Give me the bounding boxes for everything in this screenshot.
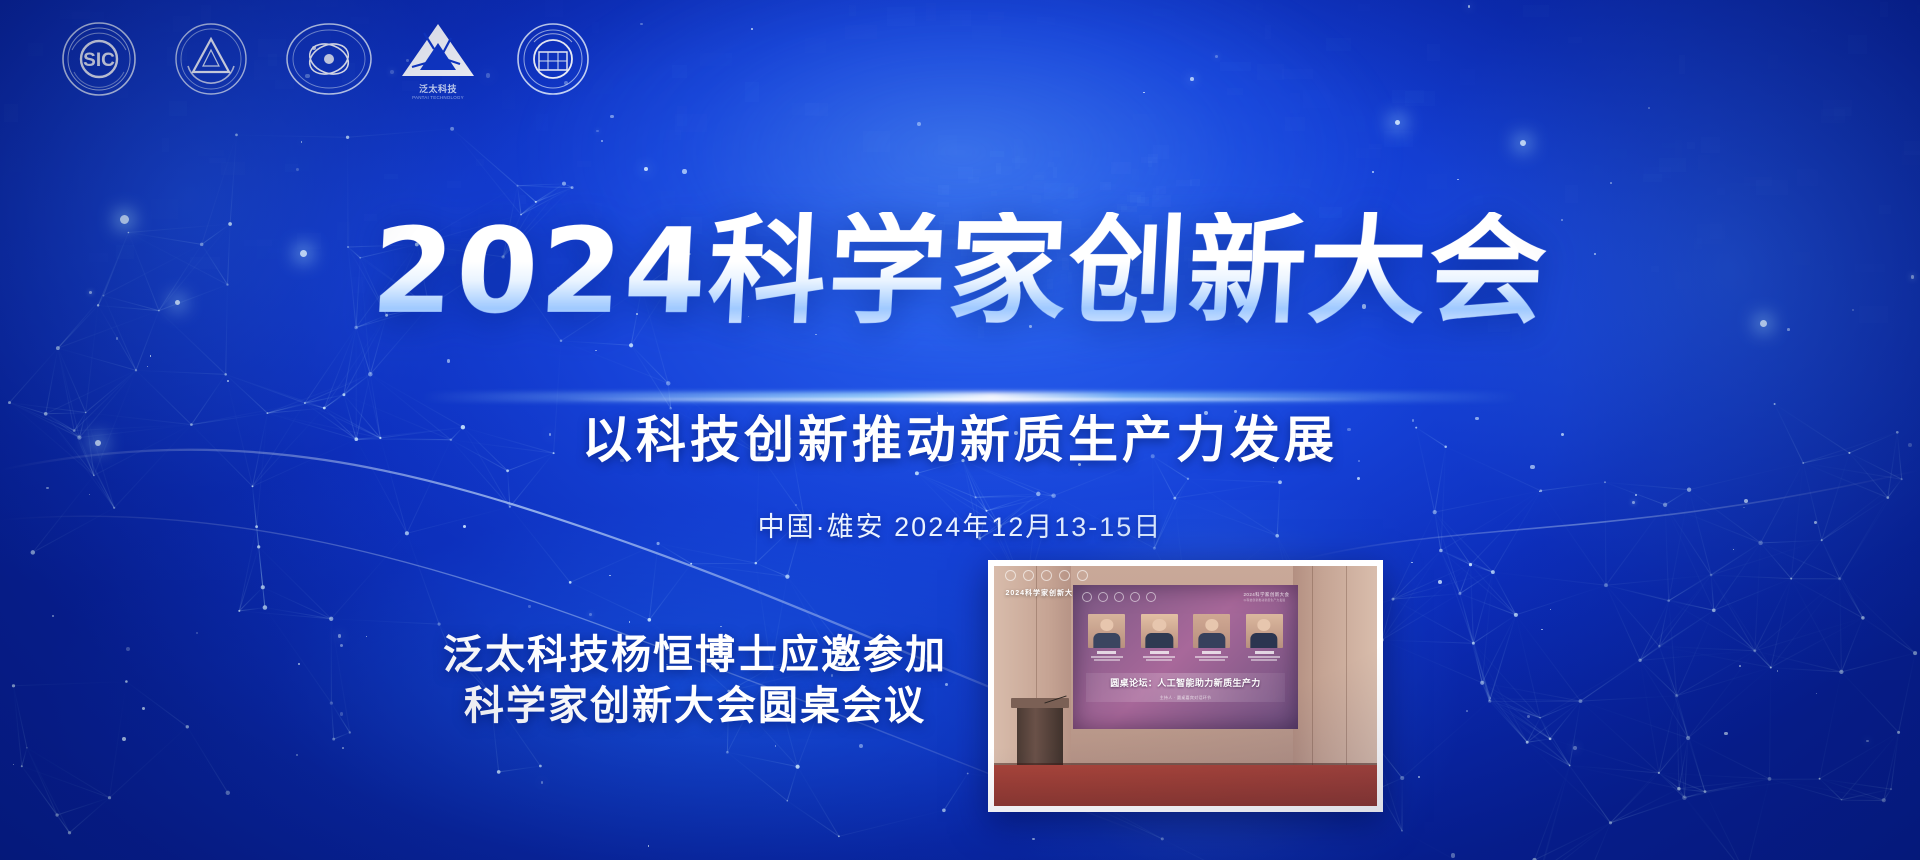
event-banner: SIC: [0, 0, 1920, 860]
background-vignette: [0, 0, 1920, 860]
